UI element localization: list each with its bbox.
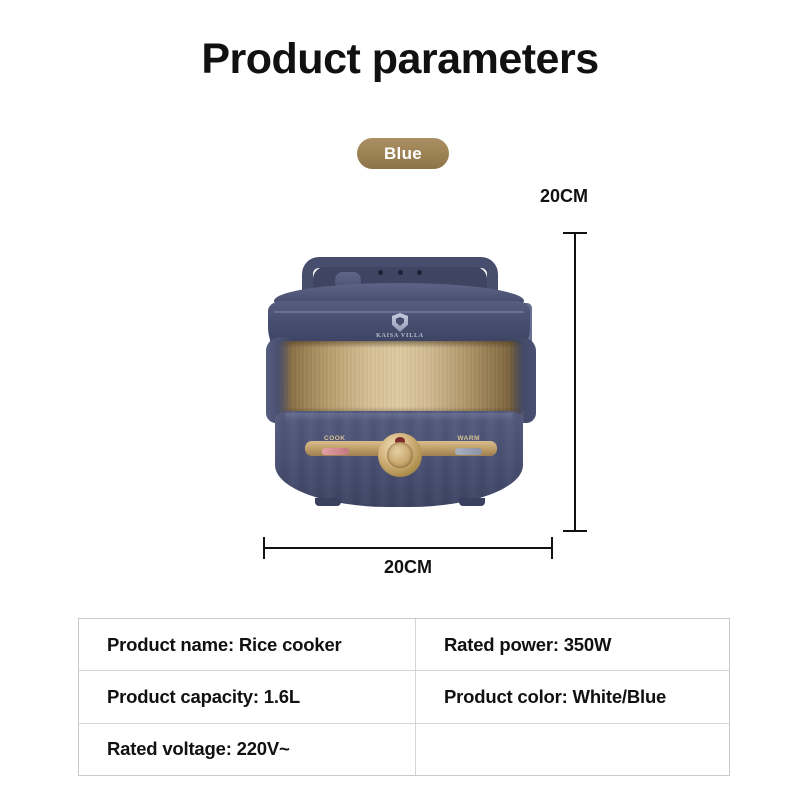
- cook-indicator-label: COOK: [324, 435, 346, 442]
- color-variant-badge[interactable]: Blue: [357, 138, 449, 169]
- warm-indicator-label: WARM: [457, 435, 480, 442]
- spec-product-name: Product name: Rice cooker: [79, 619, 416, 670]
- spec-product-color: Product color: White/Blue: [416, 671, 729, 722]
- brand-logo: KAISA VILLA: [250, 313, 550, 339]
- table-row: Product capacity: 1.6L Product color: Wh…: [79, 671, 729, 723]
- shield-icon: [392, 313, 408, 332]
- brand-name-label: KAISA VILLA: [250, 333, 550, 339]
- spec-product-capacity: Product capacity: 1.6L: [79, 671, 416, 722]
- table-row: Rated voltage: 220V~: [79, 724, 729, 775]
- steam-vent-dots: [378, 268, 422, 276]
- gold-metal-band: [273, 341, 525, 417]
- knob-pointer-dot: [395, 437, 405, 445]
- height-dimension-label: 20CM: [540, 186, 588, 207]
- foot-left: [315, 498, 341, 506]
- warm-indicator-light: [455, 448, 482, 455]
- spec-rated-power: Rated power: 350W: [416, 619, 729, 670]
- mode-selector-knob: [378, 433, 422, 477]
- body-edge-right: [510, 337, 536, 423]
- product-image-rice-cooker: KAISA VILLA COOK WARM: [250, 245, 550, 535]
- cook-indicator-light: [322, 448, 349, 455]
- foot-right: [459, 498, 485, 506]
- spec-rated-voltage: Rated voltage: 220V~: [79, 724, 416, 775]
- height-dimension-line: [574, 232, 576, 532]
- table-row: Product name: Rice cooker Rated power: 3…: [79, 619, 729, 671]
- width-dimension-label: 20CM: [344, 557, 472, 578]
- width-dimension-line: [263, 547, 553, 549]
- spec-empty: [416, 724, 729, 775]
- specifications-table: Product name: Rice cooker Rated power: 3…: [78, 618, 730, 776]
- page-title: Product parameters: [0, 36, 800, 83]
